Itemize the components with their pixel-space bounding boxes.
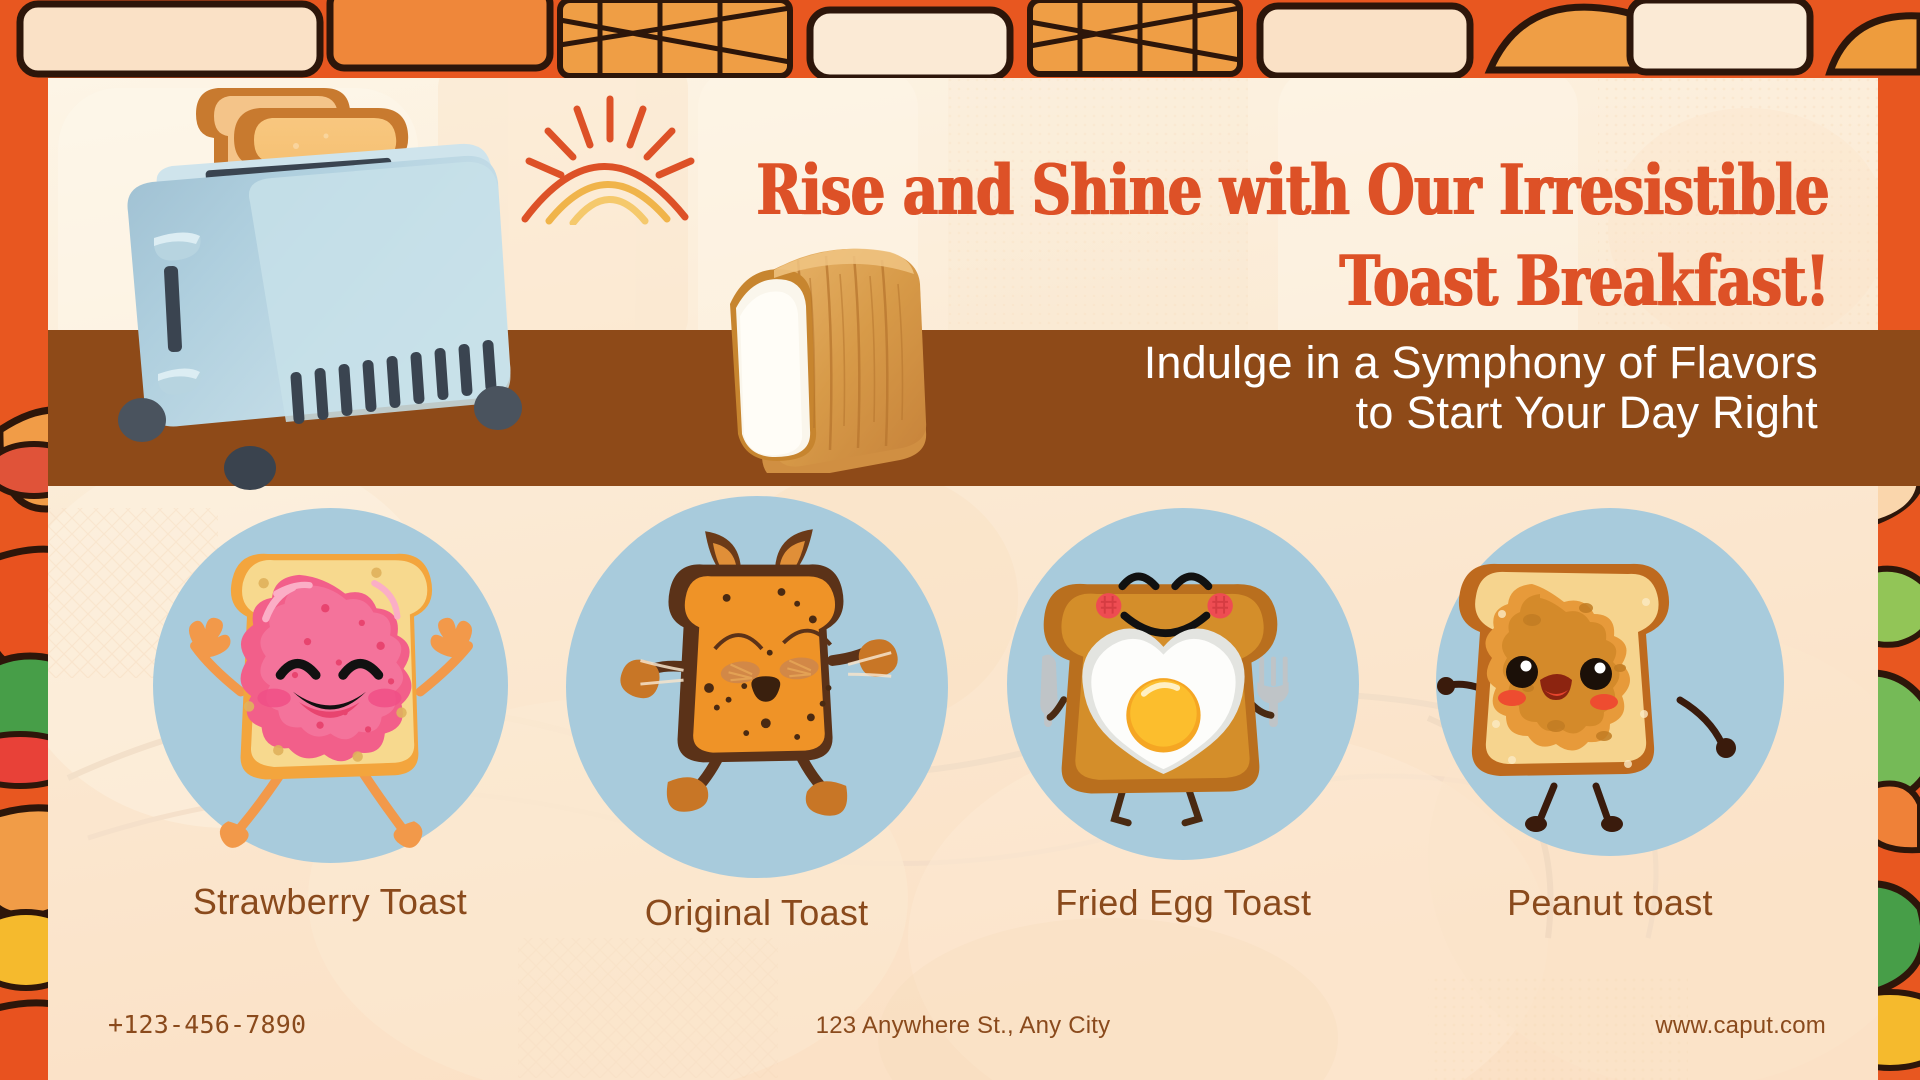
headline-line-1: Rise and Shine with Our Irresistible (748, 145, 1828, 236)
product-card-fried-egg-toast[interactable]: Fried Egg Toast (983, 508, 1383, 924)
product-card-original-toast[interactable]: Original Toast (557, 508, 957, 934)
product-label: Fried Egg Toast (1055, 882, 1311, 924)
product-label: Original Toast (645, 892, 869, 934)
product-disc (153, 508, 508, 863)
subtitle-line-2: to Start Your Day Right (998, 388, 1818, 438)
cat-toast-character-icon (566, 496, 948, 878)
footer-website[interactable]: www.caput.com (1655, 1012, 1826, 1040)
product-card-peanut-toast[interactable]: Peanut toast (1410, 508, 1810, 924)
footer: +123-456-7890 123 Anywhere St., Any City… (48, 1006, 1878, 1054)
subtitle-line-1: Indulge in a Symphony of Flavors (998, 338, 1818, 388)
subtitle-text: Indulge in a Symphony of Flavors to Star… (998, 338, 1818, 439)
bread-loaf-icon (722, 238, 962, 473)
product-disc (1436, 508, 1784, 856)
footer-address: 123 Anywhere St., Any City (816, 1012, 1111, 1040)
fried-egg-toast-character-icon (1007, 508, 1359, 860)
product-list: Strawberry Toast (130, 508, 1810, 948)
toaster-icon (100, 70, 550, 490)
product-card-strawberry-toast[interactable]: Strawberry Toast (130, 508, 530, 923)
footer-phone[interactable]: +123-456-7890 (108, 1010, 306, 1039)
peanut-toast-character-icon (1436, 508, 1784, 856)
product-disc (566, 496, 948, 878)
product-label: Peanut toast (1507, 882, 1713, 924)
product-label: Strawberry Toast (193, 881, 467, 923)
poster-canvas: Indulge in a Symphony of Flavors to Star… (0, 0, 1920, 1080)
strawberry-toast-character-icon (153, 508, 508, 863)
product-disc (1007, 508, 1359, 860)
